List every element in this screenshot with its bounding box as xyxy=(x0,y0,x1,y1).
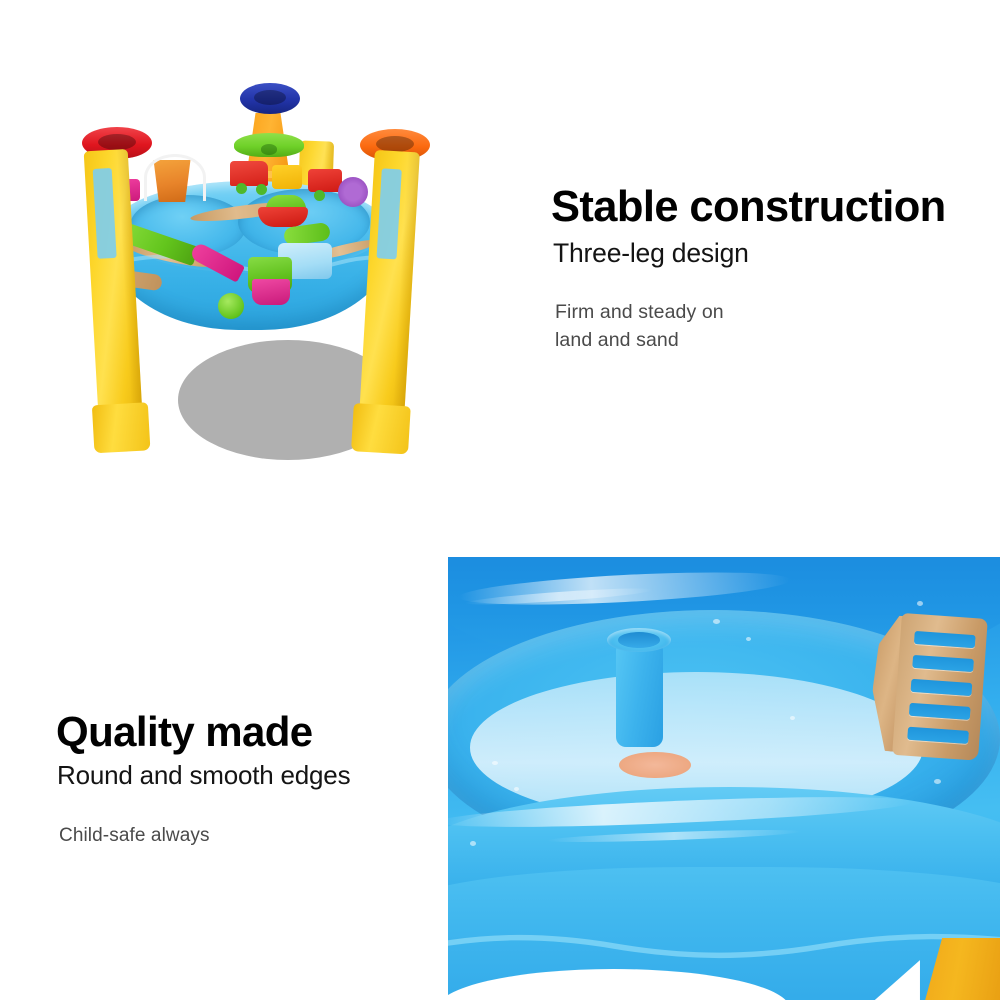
bucket-handle xyxy=(144,154,206,201)
red-train-car-toy xyxy=(308,169,342,192)
water-droplet xyxy=(492,761,498,765)
blue-funnel-icon xyxy=(240,83,300,114)
tan-grate-tool xyxy=(868,611,988,760)
drain-spout xyxy=(616,646,662,748)
feature-body-line2: land and sand xyxy=(555,327,946,355)
feature-body-line1: Firm and steady on xyxy=(555,299,946,327)
purple-gear-toy xyxy=(338,177,368,207)
feature-text-stable-construction: Stable construction Three-leg design Fir… xyxy=(551,186,946,355)
feature-body: Child-safe always xyxy=(59,823,350,850)
red-train-toy xyxy=(230,161,268,186)
feature-text-quality-made: Quality made Round and smooth edges Chil… xyxy=(56,711,350,850)
product-photo-sand-water-table xyxy=(70,55,450,465)
leg-foot xyxy=(92,402,151,453)
funnel-hole xyxy=(254,90,286,106)
red-boat-toy xyxy=(258,207,308,227)
feature-body-line1: Child-safe always xyxy=(59,823,350,850)
funnel-hole xyxy=(98,134,136,150)
train-wheel xyxy=(314,190,325,201)
train-wheel xyxy=(256,184,267,195)
yellow-train-car-toy xyxy=(272,165,302,189)
feature-headline: Quality made xyxy=(56,711,350,753)
green-ball-toy xyxy=(218,293,244,319)
green-waterwheel xyxy=(234,133,304,157)
water-droplet xyxy=(746,637,751,641)
train-wheel xyxy=(236,183,247,194)
marketing-image-canvas: Stable construction Three-leg design Fir… xyxy=(0,0,1000,1000)
skirt-wave-groove xyxy=(448,929,1000,960)
drain-spout-hole xyxy=(618,632,660,648)
feature-subhead: Three-leg design xyxy=(553,239,946,269)
water-droplet xyxy=(470,841,476,846)
feature-body: Firm and steady on land and sand xyxy=(555,299,946,354)
closeup-photo-water-tray xyxy=(448,557,1000,1000)
water-droplet xyxy=(713,619,720,624)
leg-foot xyxy=(351,403,411,454)
feature-headline: Stable construction xyxy=(551,186,946,230)
water-droplet xyxy=(934,779,941,784)
feature-subhead: Round and smooth edges xyxy=(57,761,350,790)
pink-watering-can-base xyxy=(252,279,290,305)
